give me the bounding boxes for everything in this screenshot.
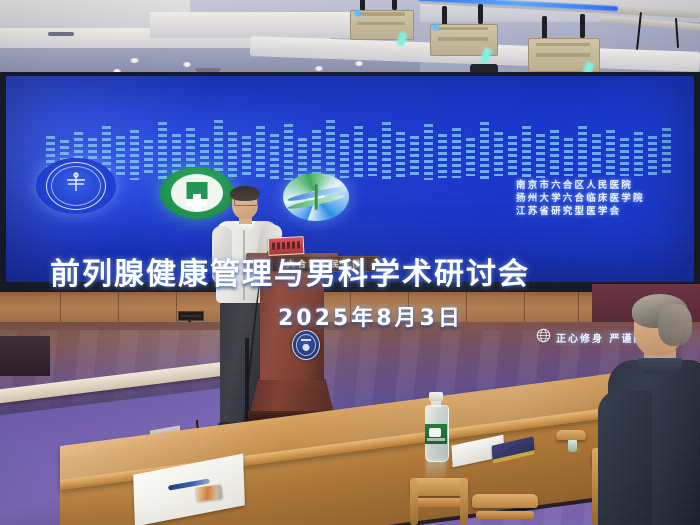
- downlight-icon: [183, 62, 191, 67]
- globe-icon: [536, 328, 551, 347]
- conference-photo: 南京市六合区人民医院 扬州大学六合临床医学院 江苏省研究型医学会 前列腺健康管理…: [0, 0, 700, 525]
- caduceus-icon: [62, 171, 90, 197]
- attendee-shoulder: [598, 390, 652, 525]
- stage-left-shadow: [0, 336, 50, 376]
- seated-attendee: [612, 298, 700, 525]
- organizer-line-3: 江苏省研究型医学会: [516, 205, 645, 218]
- hospital-crest-emblem: [292, 330, 320, 360]
- wall-vent: [178, 311, 204, 321]
- speaker-glasses: [234, 199, 258, 206]
- bottle-cap: [429, 392, 443, 401]
- water-bottle: [424, 392, 448, 460]
- stage-spotlight: [430, 16, 496, 54]
- wooden-chair: [404, 478, 474, 525]
- hospital-emblem-logo: [36, 158, 116, 214]
- seminar-date: 2025年8月3日: [278, 300, 463, 332]
- wooden-chair: [468, 494, 542, 525]
- paper-cup: [568, 440, 577, 452]
- organizer-line-2: 扬州大学六合临床医学院: [516, 192, 645, 205]
- downlight-icon: [130, 58, 139, 63]
- attendee-ear: [640, 328, 651, 343]
- stage-spotlight: [350, 2, 412, 38]
- downlight-icon: [315, 66, 323, 71]
- organizer-line-1: 南京市六合区人民医院: [516, 179, 645, 192]
- stage-spotlight: [528, 32, 598, 70]
- attendee-collar: [638, 358, 682, 374]
- seminar-title: 前列腺健康管理与男科学术研讨会: [50, 249, 530, 293]
- ceiling-slot-vent: [48, 32, 74, 36]
- attendee-hair: [658, 304, 692, 346]
- medical-society-swirl-logo: [283, 173, 349, 221]
- led-display-wall: 南京市六合区人民医院 扬州大学六合临床医学院 江苏省研究型医学会 前列腺健康管理…: [0, 72, 700, 294]
- ceiling: [0, 0, 700, 78]
- downlight-icon: [355, 61, 363, 66]
- organizer-list: 南京市六合区人民医院 扬州大学六合临床医学院 江苏省研究型医学会: [516, 179, 645, 218]
